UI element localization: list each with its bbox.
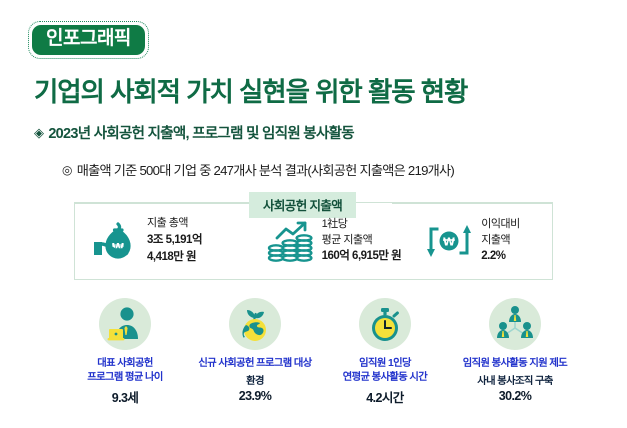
subtitle: ◈ 2023년 사회공헌 지출액, 프로그램 및 임직원 봉사활동: [34, 122, 354, 143]
hand-money-bag-icon: ₩: [90, 219, 138, 263]
panel-item-line2: 평균 지출액: [322, 234, 373, 246]
stat-label-line1: 신규 사회공헌 프로그램 대상: [198, 357, 311, 371]
person-laptop-icon: [105, 305, 145, 343]
stopwatch-clock-icon: [365, 305, 405, 343]
panel-item-line2: 3조 5,191억: [147, 234, 202, 246]
coin-stack-growth-icon: [267, 219, 313, 263]
panel-item-average-spending: 1社당 평균 지출액 160억 6,915만 원: [267, 217, 427, 266]
stat-label-line1: 임직원 1인당: [343, 357, 427, 371]
panel-item-profit-ratio-text: 이익대비 지출액 2.2%: [481, 217, 519, 266]
stat-sub: 사내 봉사조직 구축: [477, 372, 553, 387]
stat-label: 임직원 1인당 연평균 봉사활동 시간: [343, 357, 427, 385]
panel-item-total-spending: ₩ 지출 총액 3조 5,191억 4,418만 원: [90, 216, 267, 266]
diamond-bullet-icon: ◈: [34, 126, 43, 139]
stat-volunteer-hours: 임직원 1인당 연평균 봉사활동 시간 4.2시간: [320, 298, 450, 406]
infographic-badge-frame: 인포그래픽: [28, 21, 149, 59]
panel-item-line3: 4,418만 원: [147, 251, 196, 263]
stat-icon-bubble: [359, 298, 411, 350]
double-circle-bullet-icon: ◎: [62, 164, 72, 176]
survey-note-text: 매출액 기준 500대 기업 중 247개사 분석 결과(사회공헌 지출액은 2…: [77, 160, 454, 179]
stat-volunteer-support-system: 임직원 봉사활동 지원 제도 사내 봉사조직 구축 30.2%: [450, 298, 580, 403]
panel-item-average-spending-text: 1社당 평균 지출액 160억 6,915만 원: [322, 217, 402, 266]
panel-item-profit-ratio: ₩ 이익대비 지출액 2.2%: [426, 217, 539, 266]
stat-icon-bubble: [229, 298, 281, 350]
earth-sprout-icon: [235, 305, 275, 343]
stat-label-line1: 임직원 봉사활동 지원 제도: [463, 357, 567, 371]
stat-icon-bubble: [489, 298, 541, 350]
subtitle-text: 2023년 사회공헌 지출액, 프로그램 및 임직원 봉사활동: [48, 122, 354, 143]
stat-program-average-age: 대표 사회공헌 프로그램 평균 나이 9.3세: [60, 298, 190, 406]
spending-panel-items: ₩ 지출 총액 3조 5,191억 4,418만 원: [74, 202, 553, 280]
stat-value: 23.9%: [239, 389, 271, 403]
infographic-page: 인포그래픽 기업의 사회적 가치 실현을 위한 활동 현황 ◈ 2023년 사회…: [0, 0, 627, 428]
panel-item-line2: 지출액: [481, 234, 510, 246]
stat-label: 임직원 봉사활동 지원 제도: [463, 357, 567, 371]
infographic-badge-label: 인포그래픽: [32, 25, 145, 55]
stat-label-line2: 프로그램 평균 나이: [87, 371, 163, 385]
stat-row: 대표 사회공헌 프로그램 평균 나이 9.3세: [60, 298, 580, 406]
stat-value: 9.3세: [112, 387, 138, 406]
panel-item-line1: 1社당: [322, 218, 348, 230]
svg-text:₩: ₩: [443, 236, 455, 249]
stat-label: 대표 사회공헌 프로그램 평균 나이: [87, 357, 163, 385]
panel-item-line1: 이익대비: [481, 218, 519, 230]
stat-icon-bubble: [99, 298, 151, 350]
people-network-icon: [495, 305, 535, 343]
stat-label-line1: 대표 사회공헌: [87, 357, 163, 371]
stat-value: 30.2%: [499, 389, 531, 403]
panel-item-line1: 지출 총액: [147, 217, 188, 229]
stat-label-line2: 연평균 봉사활동 시간: [343, 371, 427, 385]
stat-value: 4.2시간: [366, 387, 403, 406]
panel-item-line3: 160억 6,915만 원: [322, 250, 402, 262]
stat-label: 신규 사회공헌 프로그램 대상: [198, 357, 311, 371]
page-title: 기업의 사회적 가치 실현을 위한 활동 현황: [34, 70, 467, 109]
panel-item-total-spending-text: 지출 총액 3조 5,191억 4,418만 원: [147, 216, 202, 266]
stat-sub: 환경: [246, 372, 264, 387]
survey-note: ◎ 매출액 기준 500대 기업 중 247개사 분석 결과(사회공헌 지출액은…: [62, 160, 454, 179]
won-circular-arrows-icon: ₩: [426, 221, 472, 261]
stat-new-program-target: 신규 사회공헌 프로그램 대상 환경 23.9%: [190, 298, 320, 403]
panel-item-line3: 2.2%: [481, 250, 505, 262]
